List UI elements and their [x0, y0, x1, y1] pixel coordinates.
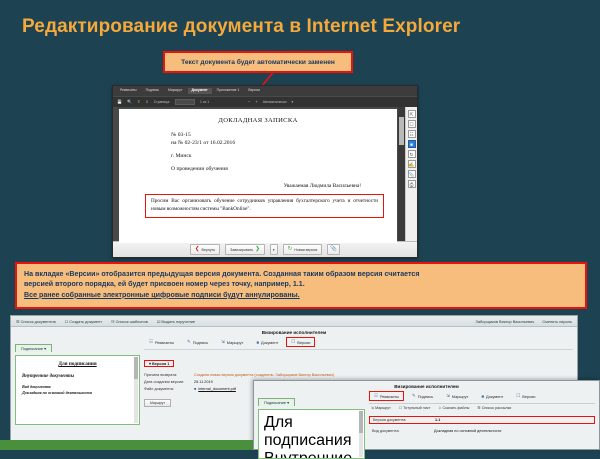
version-file-label: Файл документа: — [144, 387, 194, 391]
document-version-value: 1.1 — [435, 418, 440, 422]
title-page-icon: ☐ — [399, 406, 402, 410]
version-reason-value: Создана новая версия документа (создател… — [194, 373, 334, 377]
print-icon[interactable]: ⎙ — [408, 180, 416, 188]
popup-subbar-route-label: Маршрут — [375, 406, 391, 410]
app-top-toolbar[interactable]: ☰ Список документов ☐ Создать документ ☷… — [11, 316, 577, 327]
ie-tab-versions[interactable]: Версии — [244, 88, 264, 93]
ie-viewer-body: ДОКЛАДНАЯ ЗАПИСКА № 03-15 на № 02-23/1 о… — [113, 107, 417, 241]
document-page: ДОКЛАДНАЯ ЗАПИСКА № 03-15 на № 02-23/1 о… — [119, 109, 397, 243]
document-heading: ДОКЛАДНАЯ ЗАПИСКА — [119, 117, 397, 124]
tab-route[interactable]: ⇲ Маршрут — [216, 337, 248, 347]
document-subject: О проведении обучения — [119, 166, 397, 172]
templates-label: Список шаблонов — [116, 319, 148, 324]
popup-tree-group[interactable]: Внутренние документы — [264, 450, 359, 459]
refresh-icon: ↻ — [288, 247, 293, 253]
rotate-icon[interactable]: ↻ — [408, 150, 416, 158]
tab-document[interactable]: ■ Документ — [251, 338, 283, 347]
ie-pdf-toolbar[interactable]: 💾 🔍 ⇧ ⇩ Страница: 1 из 1 − + Автоматичес… — [113, 96, 417, 107]
ie-tab-signature[interactable]: Подпись — [142, 88, 163, 93]
popup-main-area: Подписание ▾ Для подписания Внутренние д… — [254, 391, 599, 459]
tab-signature-label: Подпись — [193, 340, 208, 345]
save-icon[interactable]: 💾 — [117, 100, 122, 104]
document-number: № 03-15 — [171, 131, 397, 139]
popup-tab-route-label: Маршрут — [452, 394, 469, 399]
version-header-label: Версия 1 — [152, 361, 169, 366]
popup-tree-panel[interactable]: Для подписания Внутренние документы — [258, 409, 365, 459]
chevron-down-icon[interactable]: ▾ — [292, 100, 294, 104]
tab-requisites-label: Реквизиты — [155, 340, 174, 345]
chevron-down-icon: ▾ — [273, 248, 275, 252]
signing-tab[interactable]: Подписание ▾ — [15, 344, 52, 352]
properties-icon: ☷ — [149, 339, 153, 345]
ie-document-window[interactable]: Реквизиты Подпись Маршрут Документ Прило… — [112, 85, 418, 258]
tree-group-internal-docs[interactable]: Внутренние документы — [22, 374, 133, 379]
version-date-value: 25.11.2019 — [194, 380, 213, 384]
document-kind-label: Вид документа: — [372, 429, 434, 433]
popup-subbar-title-page-label: Титульный лист — [403, 406, 430, 410]
chevron-down-icon: ▾ — [44, 346, 46, 351]
new-version-button-label: Новая версия — [294, 248, 317, 252]
document-icon: ■ — [481, 394, 484, 399]
document-scrollbar[interactable] — [398, 107, 405, 241]
previous-page-icon[interactable]: ⇧ — [137, 100, 140, 104]
ie-tab-attachment-1[interactable]: Приложение 1 — [213, 88, 244, 93]
note-line-3: Все ранее собранные электронные цифровые… — [24, 290, 578, 300]
tabs-divider — [144, 349, 573, 350]
popup-signing-tab[interactable]: Подписание ▾ — [258, 398, 295, 406]
window-status-strip — [0, 440, 253, 450]
document-kind-row: Вид документа: Докладная по основной дея… — [369, 429, 595, 433]
ie-tools-sidebar[interactable]: ⇱ ☐ ☷ ■ ↻ ✍ 📎 ⎙ — [405, 107, 417, 241]
version-reason-label: Причина возврата: — [144, 373, 194, 377]
create-document-label: Создать документ — [69, 319, 102, 324]
mailing-list-icon: ☰ — [477, 406, 480, 410]
popup-tab-signature[interactable]: ✎ Подпись — [407, 391, 438, 401]
ie-tab-route[interactable]: Маршрут — [164, 88, 186, 93]
document-version-row: Версия документа: 1.1 — [369, 416, 595, 424]
document-city: г. Минск — [119, 153, 397, 159]
popup-subbar-mailing-list[interactable]: ☰ Список рассылки — [477, 406, 511, 410]
tree-scrollbar-thumb[interactable] — [134, 357, 138, 379]
page-label: Страница: — [154, 100, 170, 104]
properties-icon: ☷ — [374, 393, 378, 399]
ie-tab-document[interactable]: Документ — [188, 88, 212, 93]
popup-tree-scrollbar-thumb[interactable] — [359, 411, 363, 433]
instruction-note: На вкладке «Версии» отобразится предыдущ… — [15, 262, 587, 309]
zoom-level-label[interactable]: Автоматически — [263, 100, 287, 104]
version-route-button[interactable]: Маршрут — [144, 399, 171, 407]
tree-scrollbar[interactable] — [134, 357, 138, 423]
popup-tab-versions-label: Версии — [522, 394, 535, 399]
document-numbers: № 03-15 на № 02-23/1 от 16.02.2016 — [119, 131, 397, 147]
popup-right-pane: ☷ Реквизиты ✎ Подпись ⇲ Маршрут ■ Докуме… — [369, 391, 595, 459]
popup-tab-requisites[interactable]: ☷ Реквизиты — [369, 391, 404, 401]
attachment-icon: 📎 — [330, 247, 337, 253]
signature-icon: ✎ — [187, 339, 191, 345]
toolbar-item-assign-task[interactable]: ☑ Выдать поручение — [157, 319, 195, 324]
ie-action-bar[interactable]: ❮ Вернуть Завизировать ❯ ▾ ↻ Новая верси… — [113, 241, 417, 257]
approve-button[interactable]: Завизировать ❯ — [225, 244, 265, 255]
popup-signing-tab-label: Подписание — [264, 400, 286, 405]
popup-subbar-title-page[interactable]: ☐ Титульный лист — [399, 406, 431, 410]
share-icon[interactable]: ⇱ — [408, 110, 416, 118]
ie-tab-bar[interactable]: Реквизиты Подпись Маршрут Документ Прило… — [113, 86, 417, 96]
popup-tab-route[interactable]: ⇲ Маршрут — [441, 391, 473, 401]
popup-tab-versions[interactable]: ☐ Версии — [511, 391, 540, 401]
route-icon: ⇲ — [221, 339, 225, 345]
tab-versions[interactable]: ☐ Версии — [286, 337, 315, 347]
document-version-label: Версия документа: — [373, 418, 435, 422]
return-button-label: Вернуть — [201, 248, 215, 252]
signing-tree-panel[interactable]: Для подписания Внутренние документы Вид … — [15, 355, 140, 425]
copy-icon[interactable]: ☐ — [408, 120, 416, 128]
popup-title: Визирование исполнителем — [254, 381, 599, 391]
document-reference: на № 02-23/1 от 16.02.2016 — [171, 139, 397, 147]
tab-requisites[interactable]: ☷ Реквизиты — [144, 337, 179, 347]
document-list-label: Список документов — [21, 319, 56, 324]
new-document-icon: ☐ — [65, 319, 69, 324]
toolbar-item-create-document[interactable]: ☐ Создать документ — [65, 319, 102, 324]
callout-text-replaced: Текст документа будет автоматически заме… — [163, 51, 353, 73]
popup-left-pane: Подписание ▾ Для подписания Внутренние д… — [258, 391, 365, 459]
return-button[interactable]: ❮ Вернуть — [190, 244, 220, 255]
chevron-down-icon: ▾ — [287, 400, 289, 405]
comment-icon[interactable]: ✍ — [408, 160, 416, 168]
route-icon: ⇲ — [371, 406, 374, 410]
popup-subbar-download[interactable]: ⇩ Скачать файлы — [438, 406, 469, 410]
version-header[interactable]: ▾ Версия 1 — [144, 360, 174, 367]
popup-tab-signature-label: Подпись — [418, 394, 433, 399]
popup-subbar-mailing-list-label: Список рассылки — [482, 406, 512, 410]
approve-dropdown-button[interactable]: ▾ — [270, 244, 278, 255]
popup-tab-document-label: Документ — [486, 394, 503, 399]
next-page-icon[interactable]: ⇩ — [145, 100, 148, 104]
document-greeting: Уважаемая Людмила Васильевна! — [119, 183, 397, 189]
callout-label: Текст документа будет автоматически заме… — [181, 59, 335, 66]
tab-signature[interactable]: ✎ Подпись — [182, 337, 213, 347]
document-body-highlighted: Просим Вас организовать обучение сотрудн… — [145, 194, 384, 218]
scrollbar-thumb[interactable] — [399, 117, 404, 145]
back-arrow-icon: ❮ — [195, 247, 200, 253]
app-tab-bar[interactable]: ☷ Реквизиты ✎ Подпись ⇲ Маршрут ■ Докуме… — [144, 337, 573, 347]
note-line-2: версией второго порядка, ей будет присво… — [24, 279, 578, 289]
search-icon[interactable]: 🔍 — [127, 100, 132, 104]
toolbar-item-templates[interactable]: ☷ Список шаблонов — [111, 319, 148, 324]
tab-document-label: Документ — [261, 340, 278, 345]
popup-sub-toolbar[interactable]: ⇲ Маршрут ☐ Титульный лист ⇩ Скачать фай… — [369, 403, 595, 412]
app-page-title: Визирование исполнителем — [11, 327, 577, 337]
templates-icon: ☷ — [111, 319, 115, 324]
page-count-label: 1 из 1 — [200, 100, 209, 104]
list-icon: ☰ — [16, 319, 20, 324]
attachment-button[interactable]: 📎 — [327, 244, 340, 255]
version-date-label: Дата создания версии: — [144, 380, 194, 384]
tab-versions-label: Версии — [297, 340, 310, 345]
note-line-1: На вкладке «Версии» отобразится предыдущ… — [24, 269, 578, 279]
pdf-file-icon: ■ — [194, 387, 196, 391]
assign-task-label: Выдать поручение — [161, 319, 195, 324]
versions-icon: ☐ — [291, 339, 295, 345]
popup-tab-bar[interactable]: ☷ Реквизиты ✎ Подпись ⇲ Маршрут ■ Докуме… — [369, 391, 595, 401]
chevron-down-icon: ▾ — [149, 361, 151, 366]
tab-route-label: Маршрут — [227, 340, 244, 345]
document-icon[interactable]: ☷ — [408, 130, 416, 138]
app-left-pane: Подписание ▾ Для подписания Внутренние д… — [15, 337, 140, 425]
version-file-link[interactable]: internal_document.pdf — [198, 387, 236, 391]
page-number-input[interactable] — [175, 99, 195, 105]
approve-button-label: Завизировать — [230, 248, 253, 252]
new-version-button[interactable]: ↻ Новая версия — [283, 244, 323, 255]
highlight-icon[interactable]: ■ — [408, 140, 416, 148]
change-password-link[interactable]: Сменить пароль — [542, 319, 572, 324]
signing-tab-label: Подписание — [21, 346, 43, 351]
popup-subbar-download-label: Скачать файлы — [443, 406, 470, 410]
document-icon: ■ — [256, 340, 259, 345]
toolbar-item-document-list[interactable]: ☰ Список документов — [16, 319, 56, 324]
popup-tree-heading: Для подписания — [264, 414, 359, 450]
signature-icon: ✎ — [412, 393, 416, 399]
requisites-popup-window[interactable]: Визирование исполнителем Подписание ▾ Дл… — [253, 380, 600, 450]
version-reason-row: Причина возврата: Создана новая версия д… — [144, 373, 573, 377]
tree-heading: Для подписания — [22, 361, 133, 367]
ie-tab-requisites[interactable]: Реквизиты — [116, 88, 141, 93]
document-kind-value: Докладная по основной деятельности — [434, 429, 501, 433]
forward-arrow-icon: ❯ — [255, 247, 260, 253]
popup-tab-requisites-label: Реквизиты — [380, 394, 399, 399]
tree-kind-value[interactable]: Докладная по основной деятельности — [22, 390, 133, 396]
attach-icon[interactable]: 📎 — [408, 170, 416, 178]
popup-tree-scrollbar[interactable] — [359, 411, 363, 457]
popup-subbar-route[interactable]: ⇲ Маршрут — [371, 406, 391, 410]
download-icon: ⇩ — [438, 406, 441, 410]
assign-task-icon: ☑ — [157, 319, 161, 324]
zoom-in-button[interactable]: + — [255, 100, 257, 104]
page-title: Редактирование документа в Internet Expl… — [22, 16, 460, 38]
popup-tab-document[interactable]: ■ Документ — [476, 392, 508, 401]
versions-icon: ☐ — [516, 393, 520, 399]
current-user-label: Заборщиков Виктор Васильевич — [476, 319, 535, 324]
zoom-out-button[interactable]: − — [248, 100, 250, 104]
route-icon: ⇲ — [446, 393, 450, 399]
